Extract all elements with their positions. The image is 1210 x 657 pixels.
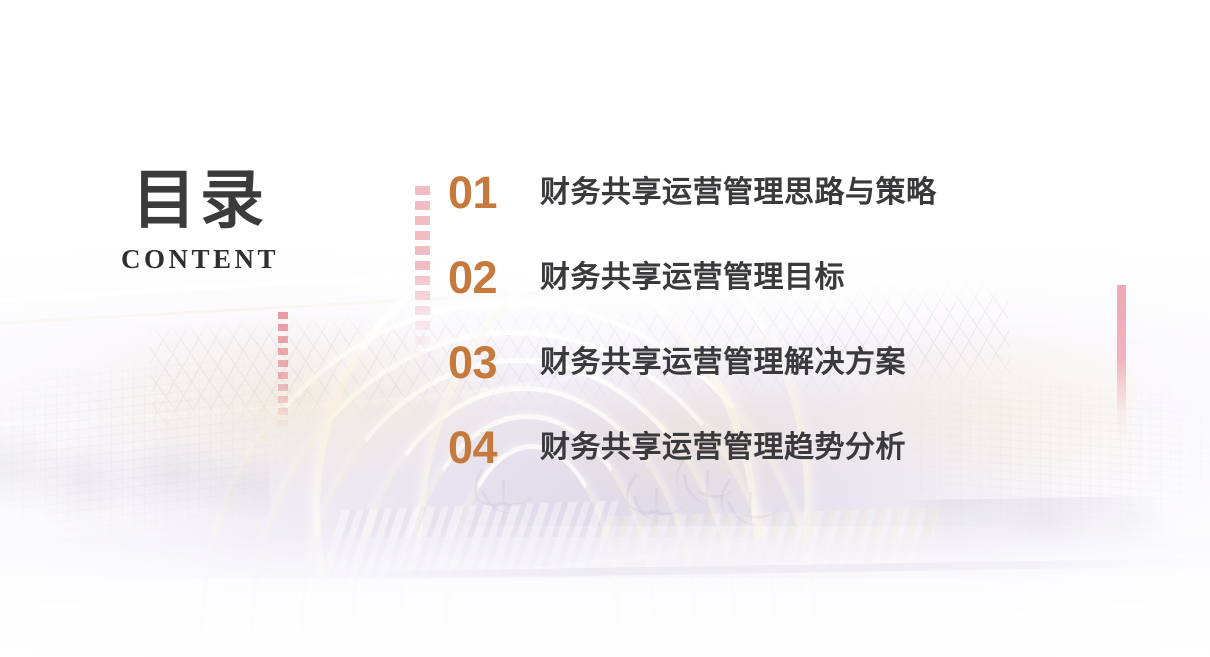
page-subtitle: CONTENT xyxy=(0,244,400,275)
list-item[interactable]: 04 财务共享运营管理趋势分析 xyxy=(448,405,1188,490)
presentation-slide: 目录 CONTENT 01 财务共享运营管理思路与策略 02 财务共享运营管理目… xyxy=(0,0,1210,657)
list-item[interactable]: 02 财务共享运营管理目标 xyxy=(448,235,1188,320)
page-title: 目录 xyxy=(0,168,400,232)
contents-heading-block: 目录 CONTENT xyxy=(0,168,400,275)
list-item[interactable]: 01 财务共享运营管理思路与策略 xyxy=(448,150,1188,235)
accent-dashed-line xyxy=(278,312,288,430)
list-item-number: 03 xyxy=(448,340,540,385)
dashed-divider xyxy=(415,186,430,362)
contents-menu: 01 财务共享运营管理思路与策略 02 财务共享运营管理目标 03 财务共享运营… xyxy=(448,150,1188,490)
slide-content: 目录 CONTENT 01 财务共享运营管理思路与策略 02 财务共享运营管理目… xyxy=(0,0,1210,657)
list-item-title: 财务共享运营管理解决方案 xyxy=(540,348,906,378)
list-item-title: 财务共享运营管理趋势分析 xyxy=(540,433,906,463)
list-item-number: 02 xyxy=(448,255,540,300)
list-item-title: 财务共享运营管理目标 xyxy=(540,263,845,293)
list-item[interactable]: 03 财务共享运营管理解决方案 xyxy=(448,320,1188,405)
list-item-number: 01 xyxy=(448,170,540,215)
list-item-title: 财务共享运营管理思路与策略 xyxy=(540,178,937,208)
list-item-number: 04 xyxy=(448,425,540,470)
